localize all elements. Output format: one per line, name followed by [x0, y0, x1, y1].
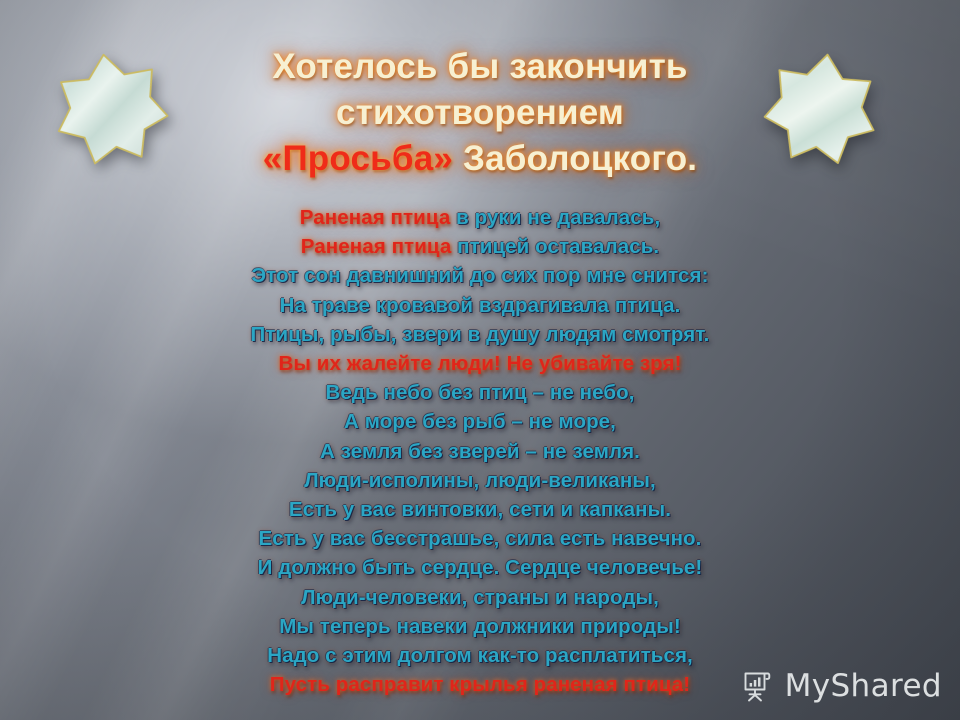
poem-line-text: Птицы, рыбы, звери в душу людям смотрят. — [251, 323, 710, 346]
poem-line-text: Надо с этим долгом как-то расплатиться, — [267, 644, 693, 667]
poem-line-text: Есть у вас бесстрашье, сила есть навечно… — [259, 527, 702, 550]
poem-line-text: И должно быть сердце. Сердце человечье! — [258, 556, 703, 579]
poem-line: И должно быть сердце. Сердце человечье! — [0, 553, 960, 582]
title-line-1: Хотелось бы закончить — [0, 44, 960, 90]
poem-line-text: птицей оставалась. — [451, 235, 659, 258]
poem-line: Птицы, рыбы, звери в душу людям смотрят. — [0, 320, 960, 349]
title-line-2: стихотворением — [0, 90, 960, 136]
poem-line-emphasis: Вы их жалейте люди! Не убивайте зря! — [278, 352, 681, 375]
poem-line: Вы их жалейте люди! Не убивайте зря! — [0, 349, 960, 378]
poem-line-emphasis: Раненая птица — [300, 206, 451, 229]
poem-line-text: Люди-исполины, люди-великаны, — [304, 469, 656, 492]
poem-line-text: А море без рыб – не море, — [344, 410, 616, 433]
poem-line-emphasis: Раненая птица — [301, 235, 452, 258]
poem-line-text: А земля без зверей – не земля. — [320, 440, 640, 463]
poem-line-text: Мы теперь навеки должники природы! — [279, 615, 681, 638]
poem-line-emphasis: Пусть расправит крылья раненая птица! — [270, 673, 690, 696]
poem-line-text: Есть у вас винтовки, сети и капканы. — [289, 498, 671, 521]
poem-line: Мы теперь навеки должники природы! — [0, 612, 960, 641]
poem-line-text: в руки не давалась, — [450, 206, 660, 229]
title-line-3: «Просьба» Заболоцкого. — [0, 136, 960, 182]
poem-line: Раненая птица в руки не давалась, — [0, 203, 960, 232]
flipchart-bar-chart-icon — [739, 668, 775, 704]
slide-title: Хотелось бы закончить стихотворением «Пр… — [0, 44, 960, 182]
poem-line: Надо с этим долгом как-то расплатиться, — [0, 641, 960, 670]
poem-line: Ведь небо без птиц – не небо, — [0, 378, 960, 407]
myshared-logo-text: MyShared — [785, 668, 942, 704]
poem-line-text: Люди-человеки, страны и народы, — [301, 586, 659, 609]
poem-line: Люди-исполины, люди-великаны, — [0, 466, 960, 495]
poem-line: Люди-человеки, страны и народы, — [0, 583, 960, 612]
presentation-slide: Хотелось бы закончить стихотворением «Пр… — [0, 0, 960, 720]
poem-line: Этот сон давнишний до сих пор мне снится… — [0, 261, 960, 290]
title-poem-author: Заболоцкого. — [453, 139, 697, 178]
poem-line: На траве кровавой вздрагивала птица. — [0, 291, 960, 320]
title-poem-name: «Просьба» — [263, 139, 453, 178]
myshared-watermark: MyShared — [739, 668, 942, 704]
poem-line: Есть у вас бесстрашье, сила есть навечно… — [0, 524, 960, 553]
poem-line: Есть у вас винтовки, сети и капканы. — [0, 495, 960, 524]
poem-line: А море без рыб – не море, — [0, 407, 960, 436]
poem-line: А земля без зверей – не земля. — [0, 437, 960, 466]
poem-line-text: На траве кровавой вздрагивала птица. — [280, 294, 681, 317]
poem-body: Раненая птица в руки не давалась,Раненая… — [0, 203, 960, 699]
poem-line: Раненая птица птицей оставалась. — [0, 232, 960, 261]
poem-line-text: Этот сон давнишний до сих пор мне снится… — [251, 264, 708, 287]
poem-line-text: Ведь небо без птиц – не небо, — [325, 381, 634, 404]
